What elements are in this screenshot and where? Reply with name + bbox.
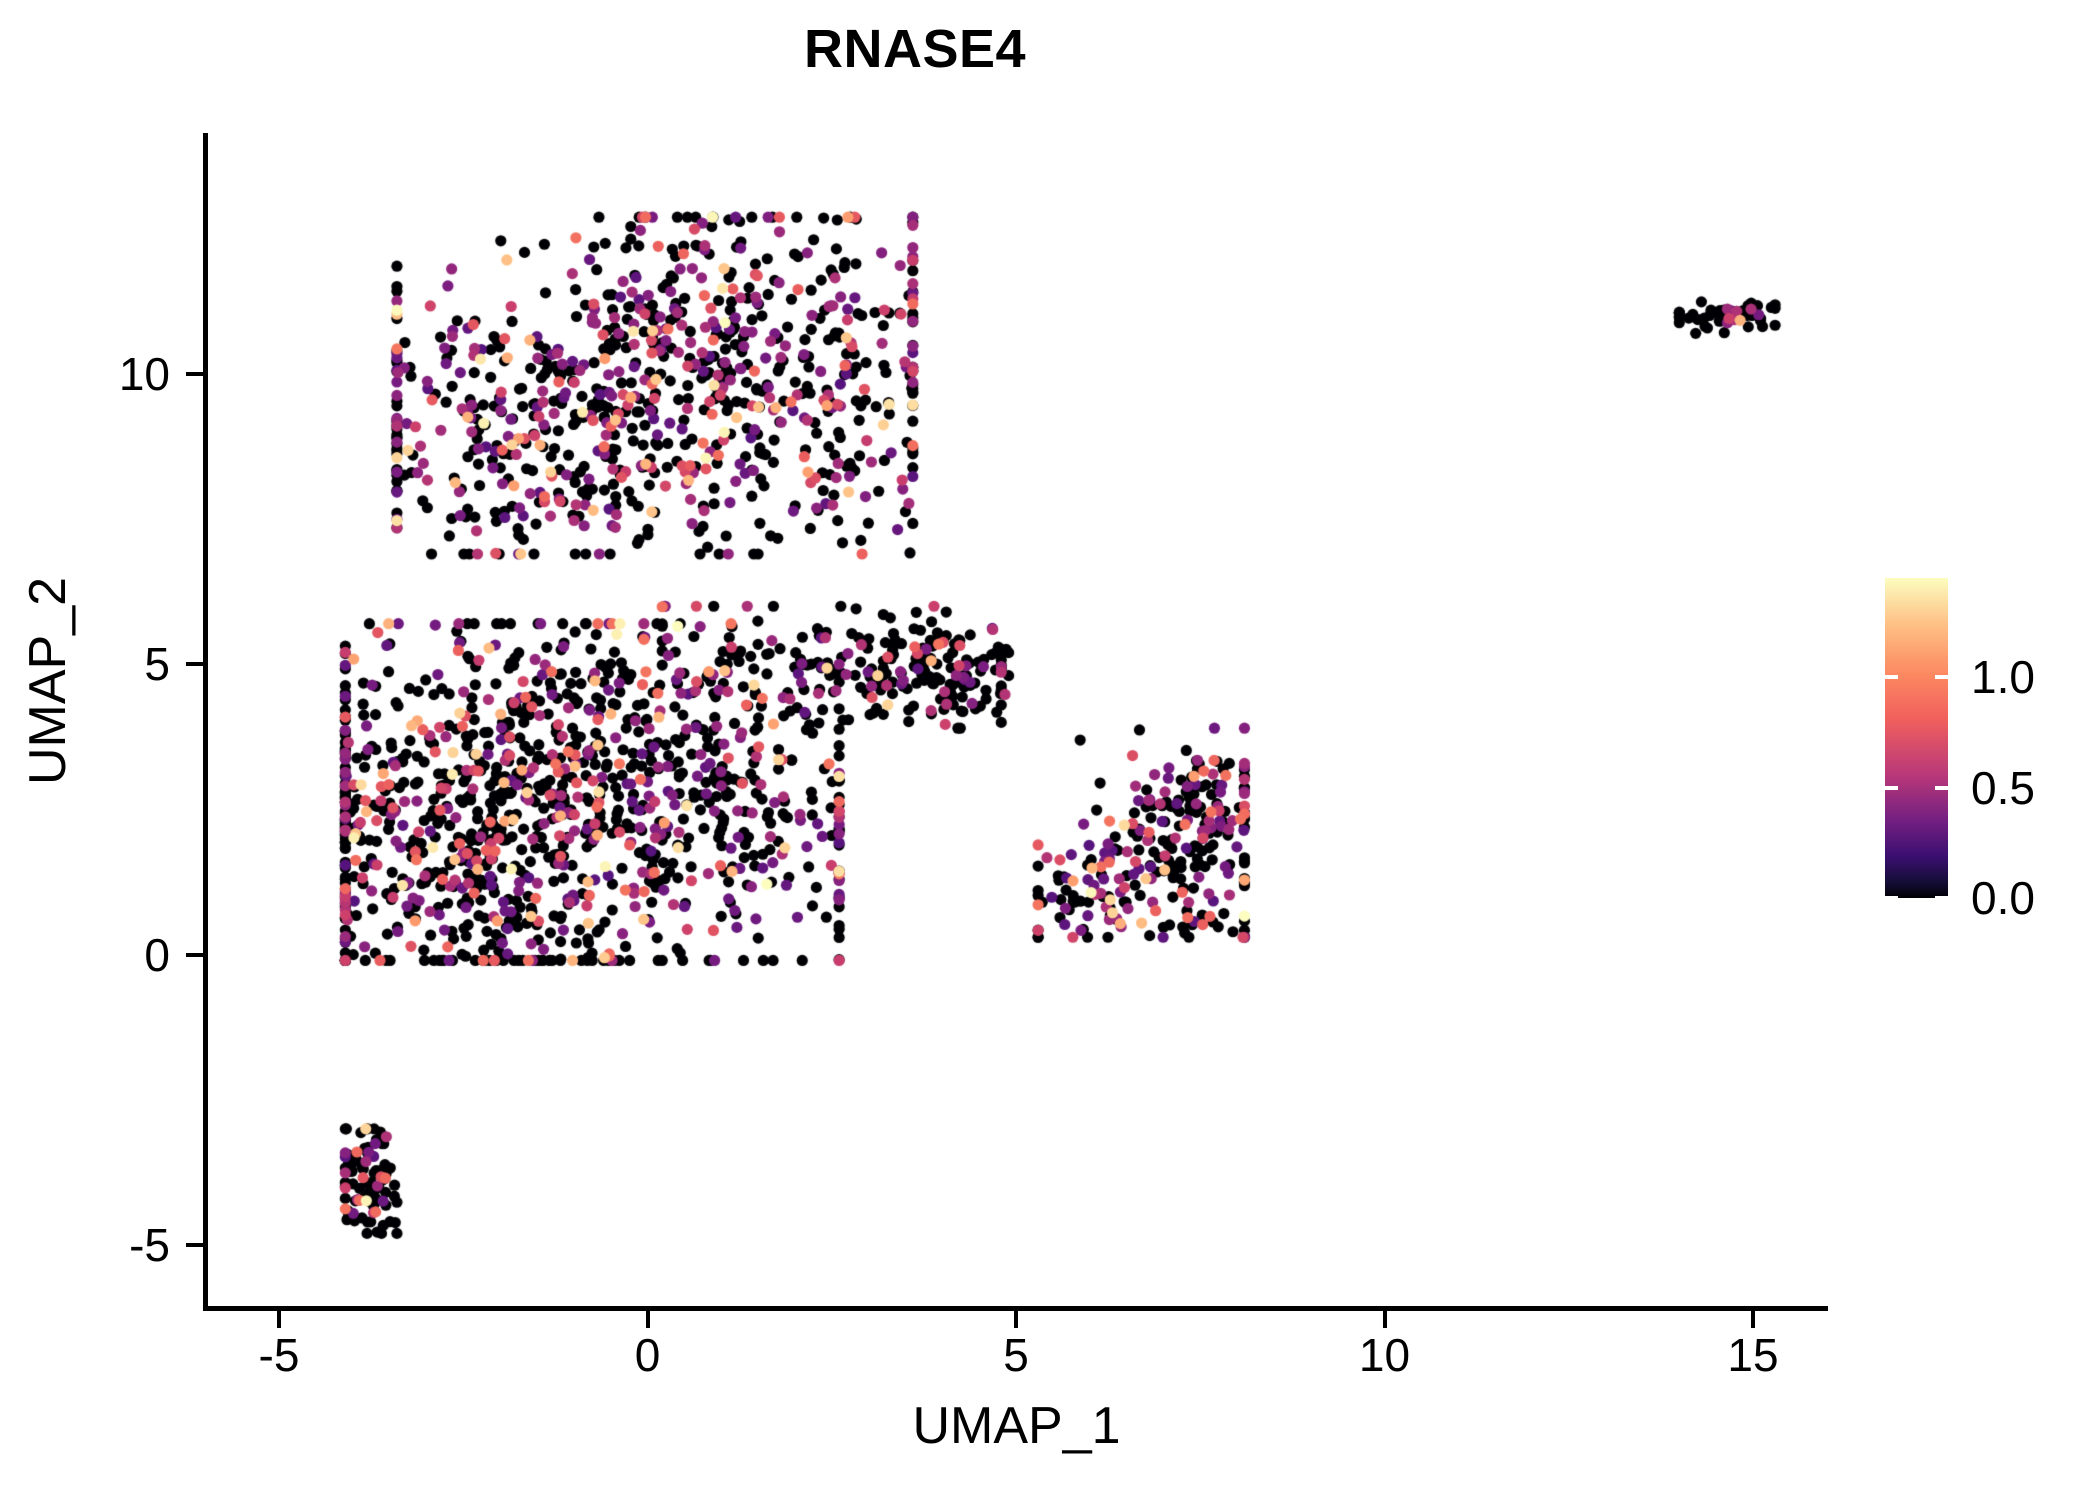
y-tick-label: -5 [0, 1222, 170, 1268]
x-tick-label: 15 [1673, 1332, 1833, 1378]
color-legend: 1.00.50.0 [1885, 570, 2085, 910]
legend-tick-mark [1885, 896, 1898, 900]
y-axis-line [203, 133, 208, 1310]
x-tick-mark [1014, 1311, 1018, 1328]
legend-tick-label: 0.0 [1971, 875, 2035, 921]
legend-colorbar [1885, 578, 1948, 898]
feature-plot-figure: RNASE4 1050-5 -5051015 UMAP_2 UMAP_1 1.0… [0, 0, 2100, 1500]
umap-scatter-canvas [205, 133, 1828, 1308]
x-tick-label: 5 [936, 1332, 1096, 1378]
y-tick-mark [186, 662, 203, 666]
y-tick-label: 10 [0, 351, 170, 397]
x-tick-label: 0 [568, 1332, 728, 1378]
x-tick-mark [1751, 1311, 1755, 1328]
x-tick-mark [277, 1311, 281, 1328]
x-tick-mark [1383, 1311, 1387, 1328]
legend-tick-mark [1885, 786, 1898, 790]
page-title: RNASE4 [0, 22, 1830, 76]
y-axis-title: UMAP_2 [22, 401, 74, 961]
legend-tick-label: 0.5 [1971, 765, 2035, 811]
x-axis-title: UMAP_1 [205, 1400, 1828, 1452]
legend-tick-label: 1.0 [1971, 654, 2035, 700]
y-tick-mark [186, 1243, 203, 1247]
x-tick-label: -5 [199, 1332, 359, 1378]
legend-tick-mark [1935, 786, 1948, 790]
x-tick-label: 10 [1305, 1332, 1465, 1378]
y-tick-mark [186, 953, 203, 957]
legend-tick-mark [1885, 675, 1898, 679]
scatter-panel [205, 133, 1828, 1308]
y-tick-mark [186, 372, 203, 376]
x-tick-mark [646, 1311, 650, 1328]
legend-tick-mark [1935, 675, 1948, 679]
legend-tick-mark [1935, 896, 1948, 900]
